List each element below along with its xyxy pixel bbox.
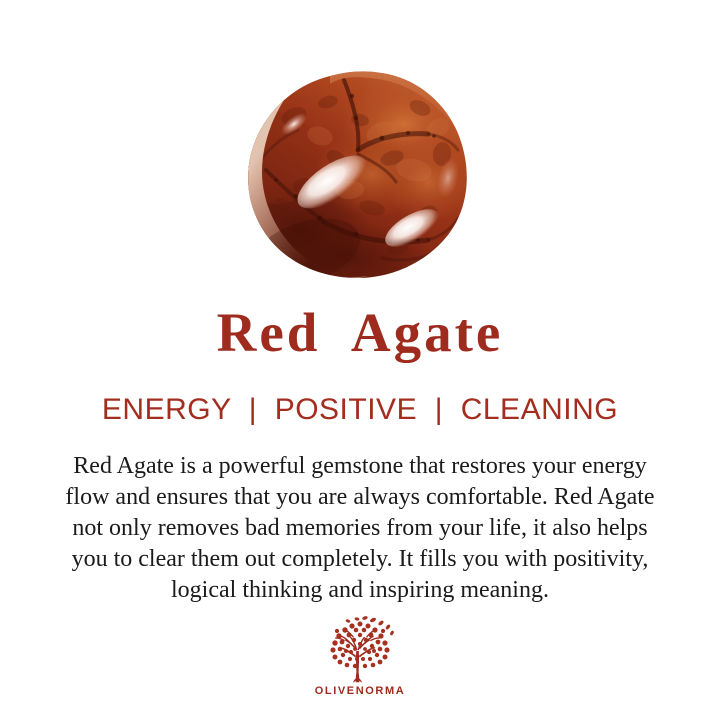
description-line: logical thinking and inspiring meaning. [14, 575, 706, 606]
description-text: Red Agate is a powerful gemstone that re… [14, 451, 706, 606]
product-info-card: Red Agate ENERGY | POSITIVE | CLEANING R… [0, 0, 720, 720]
description-line: you to clear them out completely. It fil… [14, 544, 706, 575]
gemstone-image-area [0, 0, 720, 300]
description-line: not only removes bad memories from your … [14, 513, 706, 544]
tree-canopy-leaves [330, 622, 389, 669]
tree-of-life-icon [321, 616, 399, 684]
description-line: Red Agate is a powerful gemstone that re… [14, 451, 706, 482]
brand-logo: OLIVENORMA [0, 616, 720, 697]
keyword-subtitle: ENERGY | POSITIVE | CLEANING [0, 393, 720, 427]
gemstone-image [232, 62, 482, 287]
brand-wordmark: OLIVENORMA [315, 685, 406, 697]
gemstone-body [232, 71, 472, 287]
page-title: Red Agate [0, 300, 720, 366]
description-line: flow and ensures that you are always com… [14, 482, 706, 513]
